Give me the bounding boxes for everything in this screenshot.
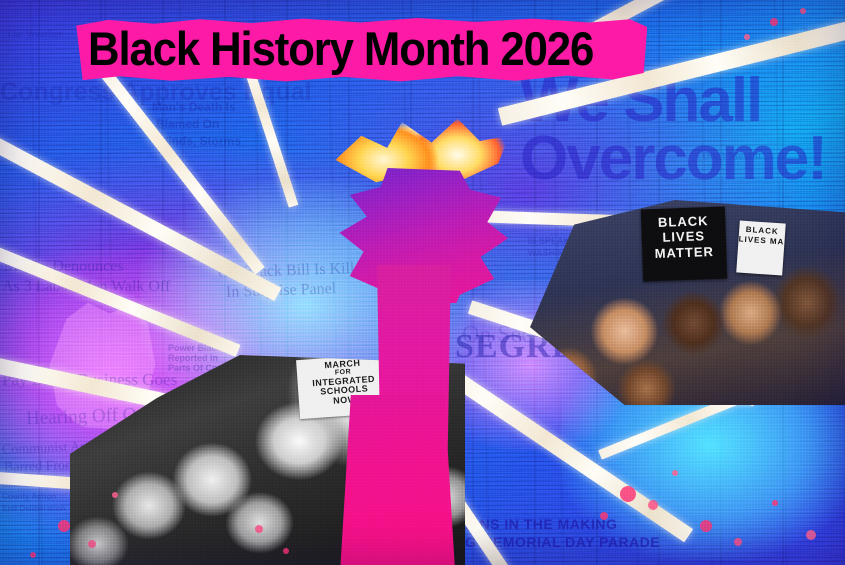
blm-sign-line3: MATTER (642, 243, 726, 261)
page-title: Black History Month 2026 (88, 25, 593, 72)
raised-fist-shape (330, 395, 460, 565)
black-lives-matter-sign: BLACK LIVES MATTER (641, 207, 727, 282)
black-lives-matter-sign-small: BLACK LIVES MA (736, 220, 786, 275)
title-banner: Black History Month 2026 (74, 18, 647, 82)
black-history-month-poster: The WeatherCongress Approves EqualMan's … (0, 0, 845, 565)
